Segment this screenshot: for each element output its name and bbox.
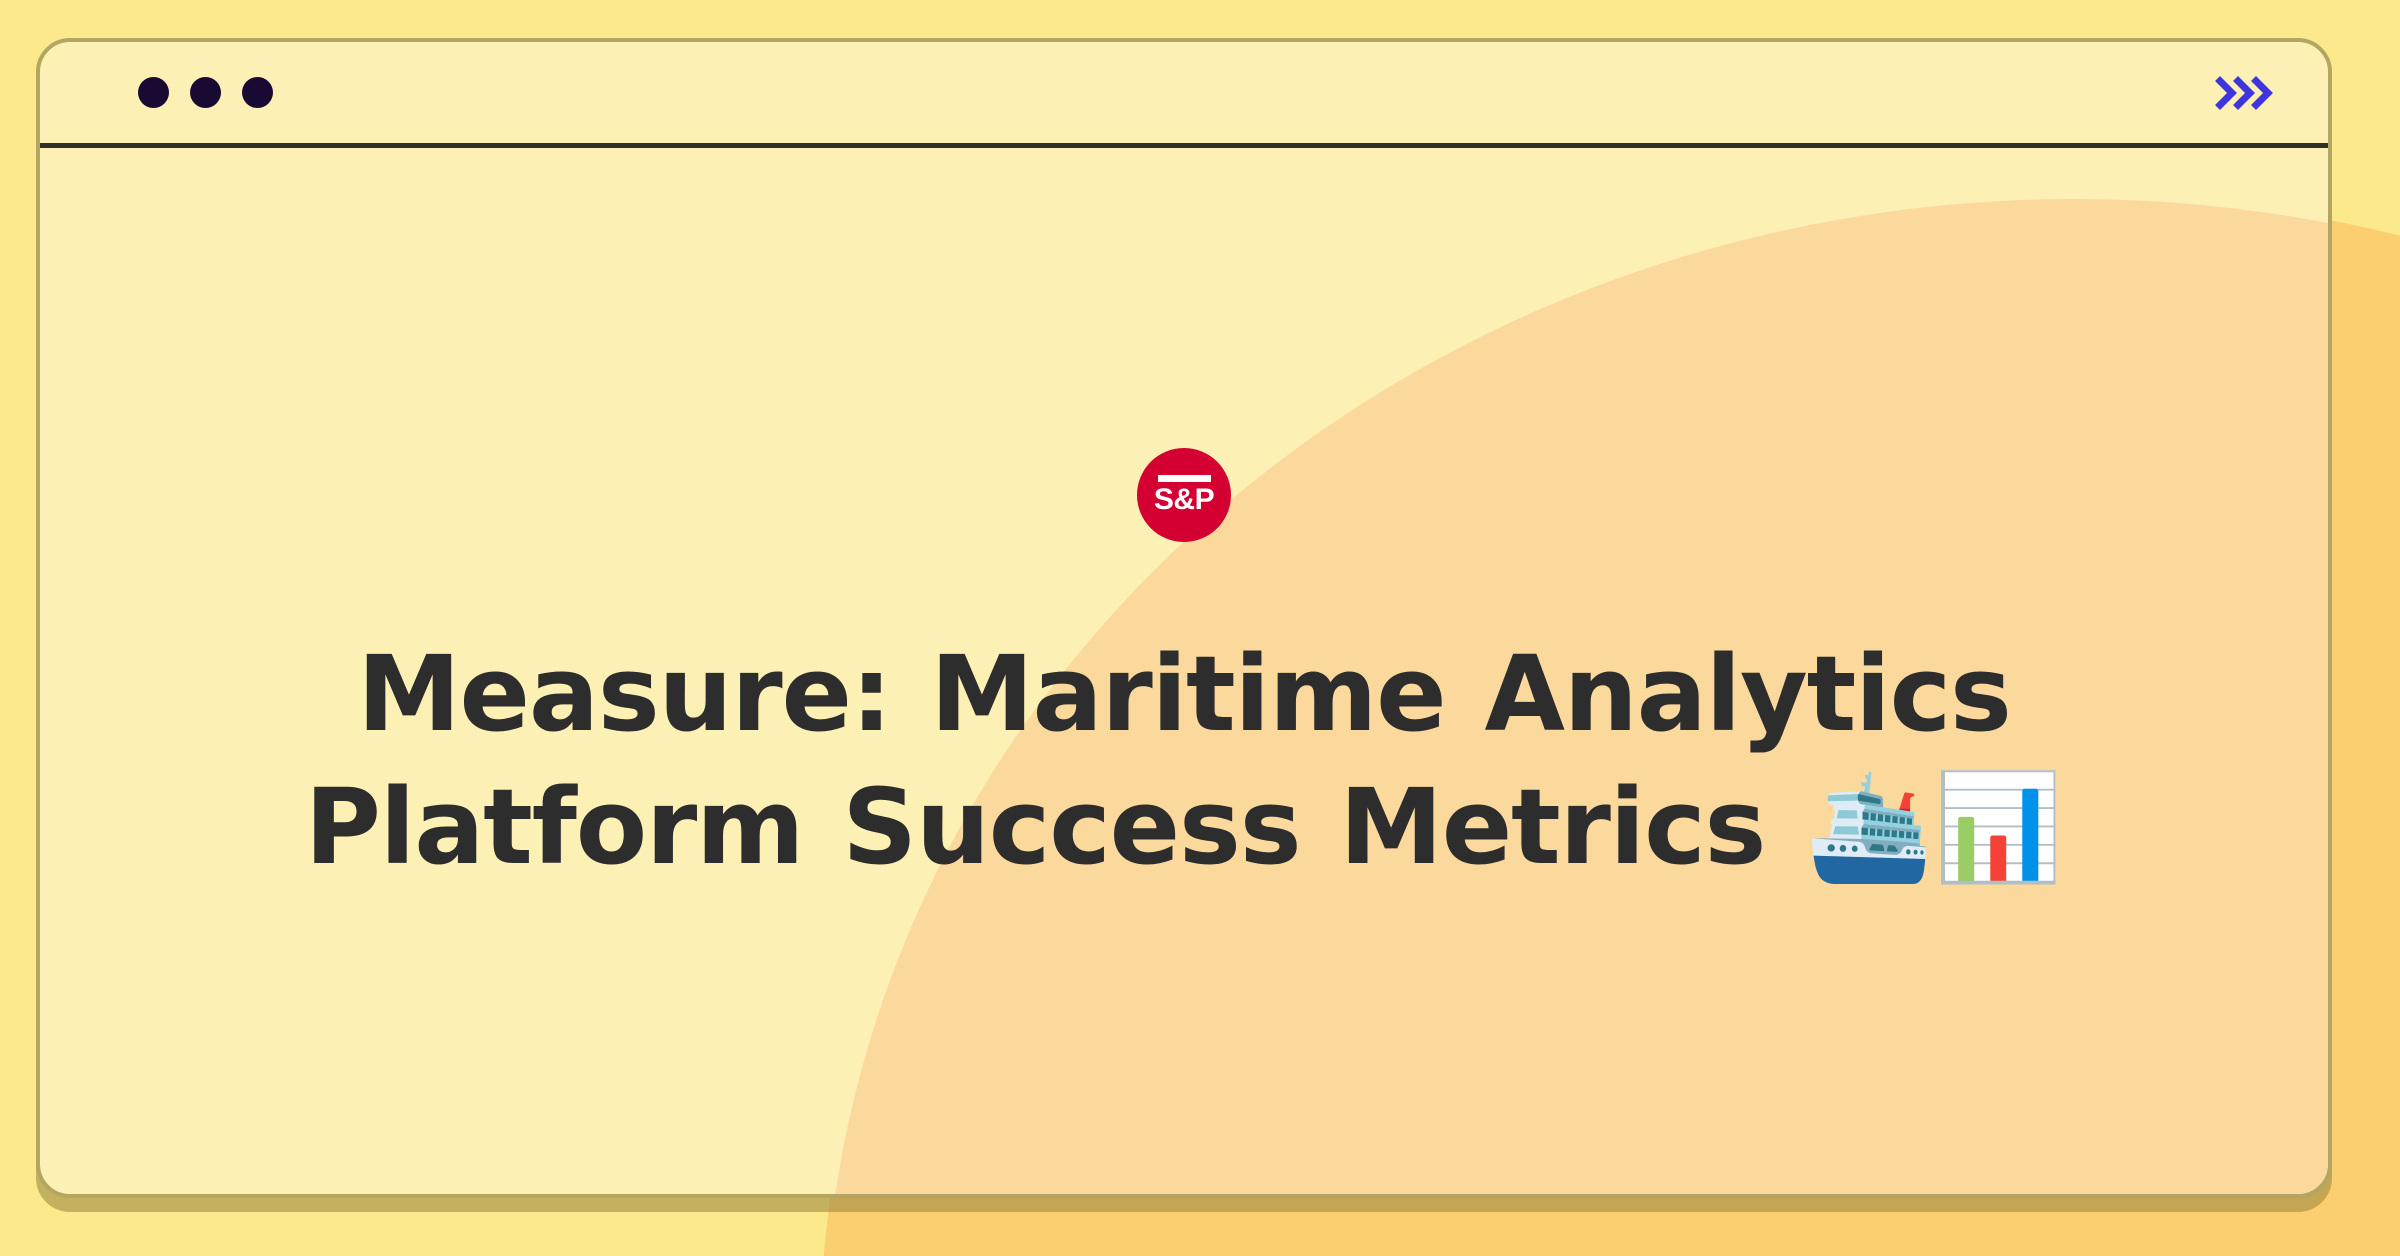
- bar-chart-emoji-icon: 📊: [1934, 766, 2064, 888]
- triple-chevron-right-icon[interactable]: [2214, 73, 2276, 113]
- page-title-line-1: Measure: Maritime Analytics: [357, 633, 2011, 755]
- logo-rule-bar: [1158, 475, 1211, 482]
- window-titlebar: [40, 42, 2328, 148]
- page-title-line-2: Platform Success Metrics: [305, 766, 1766, 888]
- slide-content: S&P Measure: Maritime Analytics Platform…: [40, 148, 2328, 1194]
- page-title: Measure: Maritime Analytics Platform Suc…: [240, 628, 2128, 894]
- passenger-ship-emoji-icon: 🛳️: [1804, 766, 1934, 888]
- sp-global-logo: S&P: [1137, 448, 1231, 542]
- maximize-button-dot[interactable]: [242, 77, 273, 108]
- close-button-dot[interactable]: [138, 77, 169, 108]
- browser-window-card: S&P Measure: Maritime Analytics Platform…: [36, 38, 2332, 1198]
- minimize-button-dot[interactable]: [190, 77, 221, 108]
- slide-canvas: S&P Measure: Maritime Analytics Platform…: [0, 0, 2400, 1256]
- logo-text: S&P: [1154, 485, 1214, 515]
- traffic-light-buttons: [138, 77, 273, 108]
